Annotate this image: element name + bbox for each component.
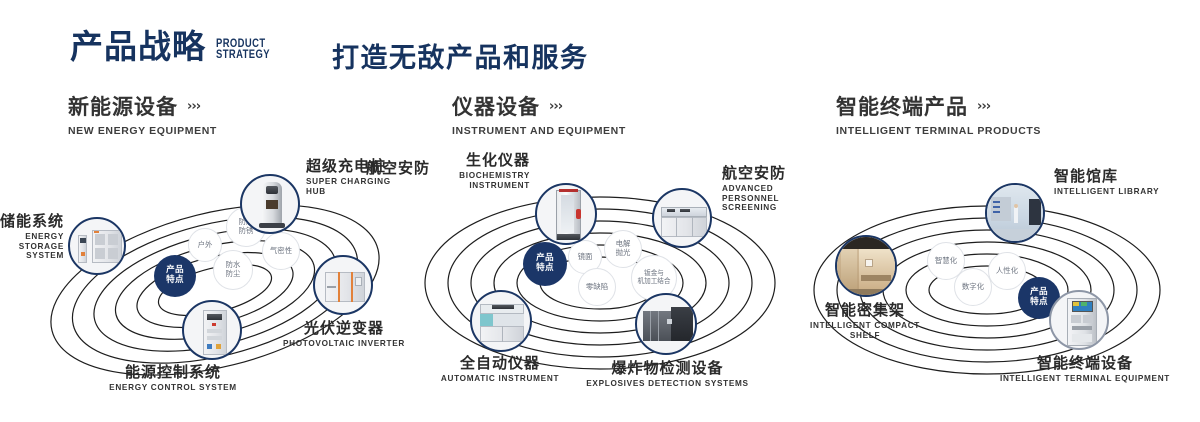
core-bubble: 产品 特点 — [523, 242, 567, 286]
node-label-en: INTELLIGENT COMPACT SHELF — [770, 321, 960, 340]
chevrons-icon: ››› — [549, 100, 562, 114]
node-photovoltaic-inverter[interactable] — [313, 255, 373, 315]
chevrons-icon: ››› — [977, 100, 990, 114]
node-advanced-personnel-screening[interactable] — [652, 188, 712, 248]
node-super-charging-hub[interactable] — [240, 174, 300, 234]
node-biochemistry-instrument[interactable] — [535, 183, 597, 245]
diagram-group-intelligent-terminal: 智慧化 数字化 人性化 产品 特点 智能馆库 INTELLIGENT LIBRA… — [790, 150, 1190, 422]
feature-bubble: 数字化 — [954, 268, 992, 306]
node-label-cn: 能源控制系统 — [88, 364, 258, 381]
node-label-cn: 爆炸物检测设备 — [580, 360, 755, 377]
node-label-en: EXPLOSIVES DETECTION SYSTEMS — [580, 379, 755, 388]
inverter-image — [315, 257, 371, 313]
node-label-biochemistry-instrument: 生化仪器 BIOCHEMISTRY INSTRUMENT — [370, 152, 530, 190]
node-label-en: AUTOMATIC INSTRUMENT — [410, 374, 590, 383]
node-label-energy-storage-system: 储能系统 ENERGY STORAGE SYSTEM — [0, 213, 64, 261]
node-intelligent-library[interactable] — [985, 183, 1045, 243]
core-bubble-line2: 特点 — [1030, 298, 1048, 308]
explosives-detection-image — [637, 295, 695, 353]
node-intelligent-terminal-equipment[interactable] — [1049, 290, 1109, 350]
node-label-en: ENERGY STORAGE SYSTEM — [0, 232, 64, 260]
node-label-cn: 智能馆库 — [1054, 168, 1159, 185]
section-heading-instrument: 仪器设备 ››› INSTRUMENT AND EQUIPMENT — [452, 96, 626, 137]
node-label-cn: 智能密集架 — [770, 302, 960, 319]
section-title-cn: 新能源设备 ››› — [68, 96, 217, 119]
core-bubble-line2: 特点 — [166, 276, 184, 286]
node-label-intelligent-compact-shelf: 智能密集架 INTELLIGENT COMPACT SHELF — [770, 302, 960, 340]
section-heading-intelligent-terminal: 智能终端产品 ››› INTELLIGENT TERMINAL PRODUCTS — [836, 96, 1041, 137]
node-label-intelligent-terminal-equipment: 智能终端设备 INTELLIGENT TERMINAL EQUIPMENT — [985, 355, 1185, 384]
node-label-photovoltaic-inverter: 光伏逆变器 PHOTOVOLTAIC INVERTER — [280, 320, 408, 349]
node-label-en: BIOCHEMISTRY INSTRUMENT — [370, 171, 530, 190]
compact-shelf-image — [837, 237, 895, 295]
node-explosives-detection-systems[interactable] — [635, 293, 697, 355]
brand-title-en: PRODUCT STRATEGY — [216, 39, 270, 61]
section-title-cn: 仪器设备 ››› — [452, 96, 626, 119]
automatic-instrument-image — [472, 292, 530, 350]
page-headline: 打造无敌产品和服务 — [332, 36, 589, 75]
charging-hub-image — [242, 176, 298, 232]
node-label-cn: 储能系统 — [0, 213, 64, 230]
section-title-en: INSTRUMENT AND EQUIPMENT — [452, 125, 626, 137]
brand-title-cn: 产品战略 — [70, 30, 206, 63]
brand-header: 产品战略 PRODUCT STRATEGY — [70, 30, 282, 63]
diagram-group-new-energy: 产品 特点 户外 防腐 防锈 防水 防尘 气密性 储能系统 ENERGY STO… — [10, 150, 410, 422]
feature-bubble: 气密性 — [262, 232, 300, 270]
node-label-en: PHOTOVOLTAIC INVERTER — [280, 339, 408, 348]
node-label-en: INTELLIGENT LIBRARY — [1054, 187, 1159, 196]
node-label-cn: 智能终端设备 — [985, 355, 1185, 372]
energy-storage-image — [70, 219, 124, 273]
diagram-group-instrument: 产品 特点 镜面 电解 抛光 零缺陷 钣金与 机加工结合 航空安防 生化仪器 B… — [400, 150, 800, 422]
node-label-intelligent-library: 智能馆库 INTELLIGENT LIBRARY — [1054, 168, 1159, 197]
section-title-cn: 智能终端产品 ››› — [836, 96, 1041, 119]
node-label-en: ENERGY CONTROL SYSTEM — [88, 383, 258, 392]
brand-title-en-line2: STRATEGY — [216, 50, 270, 61]
product-strategy-infographic: 产品战略 PRODUCT STRATEGY 打造无敌产品和服务 新能源设备 ››… — [0, 0, 1200, 422]
terminal-equipment-image — [1051, 292, 1107, 348]
section-heading-new-energy: 新能源设备 ››› NEW ENERGY EQUIPMENT — [68, 96, 217, 137]
library-image — [987, 185, 1043, 241]
section-title-cn-text: 智能终端产品 — [836, 96, 968, 119]
section-title-en: NEW ENERGY EQUIPMENT — [68, 125, 217, 137]
node-label-cn: 全自动仪器 — [410, 355, 590, 372]
node-label-explosives-detection-systems: 爆炸物检测设备 EXPLOSIVES DETECTION SYSTEMS — [580, 360, 755, 389]
feature-bubble: 防水 防尘 — [213, 250, 253, 290]
section-title-en: INTELLIGENT TERMINAL PRODUCTS — [836, 125, 1041, 137]
node-label-en: INTELLIGENT TERMINAL EQUIPMENT — [985, 374, 1185, 383]
core-bubble: 产品 特点 — [154, 255, 196, 297]
screening-image — [654, 190, 710, 246]
control-system-image — [184, 302, 240, 358]
node-energy-storage-system[interactable] — [68, 217, 126, 275]
node-intelligent-compact-shelf[interactable] — [835, 235, 897, 297]
node-label-cn: 生化仪器 — [370, 152, 530, 169]
section-title-cn-text: 新能源设备 — [68, 96, 178, 119]
section-title-cn-text: 仪器设备 — [452, 96, 540, 119]
chevrons-icon: ››› — [187, 100, 200, 114]
core-bubble-line2: 特点 — [536, 264, 554, 274]
node-label-advanced-personnel-screening: 航空安防 ADVANCED PERSONNEL SCREENING — [722, 165, 800, 213]
node-energy-control-system[interactable] — [182, 300, 242, 360]
node-label-automatic-instrument: 全自动仪器 AUTOMATIC INSTRUMENT — [410, 355, 590, 384]
node-label-cn: 光伏逆变器 — [280, 320, 408, 337]
node-label-energy-control-system: 能源控制系统 ENERGY CONTROL SYSTEM — [88, 364, 258, 393]
biochemistry-image — [537, 185, 595, 243]
feature-bubble: 零缺陷 — [578, 268, 616, 306]
feature-bubble: 人性化 — [988, 252, 1026, 290]
node-label-cn: 航空安防 — [722, 165, 800, 182]
node-automatic-instrument[interactable] — [470, 290, 532, 352]
node-label-en: ADVANCED PERSONNEL SCREENING — [722, 184, 800, 212]
